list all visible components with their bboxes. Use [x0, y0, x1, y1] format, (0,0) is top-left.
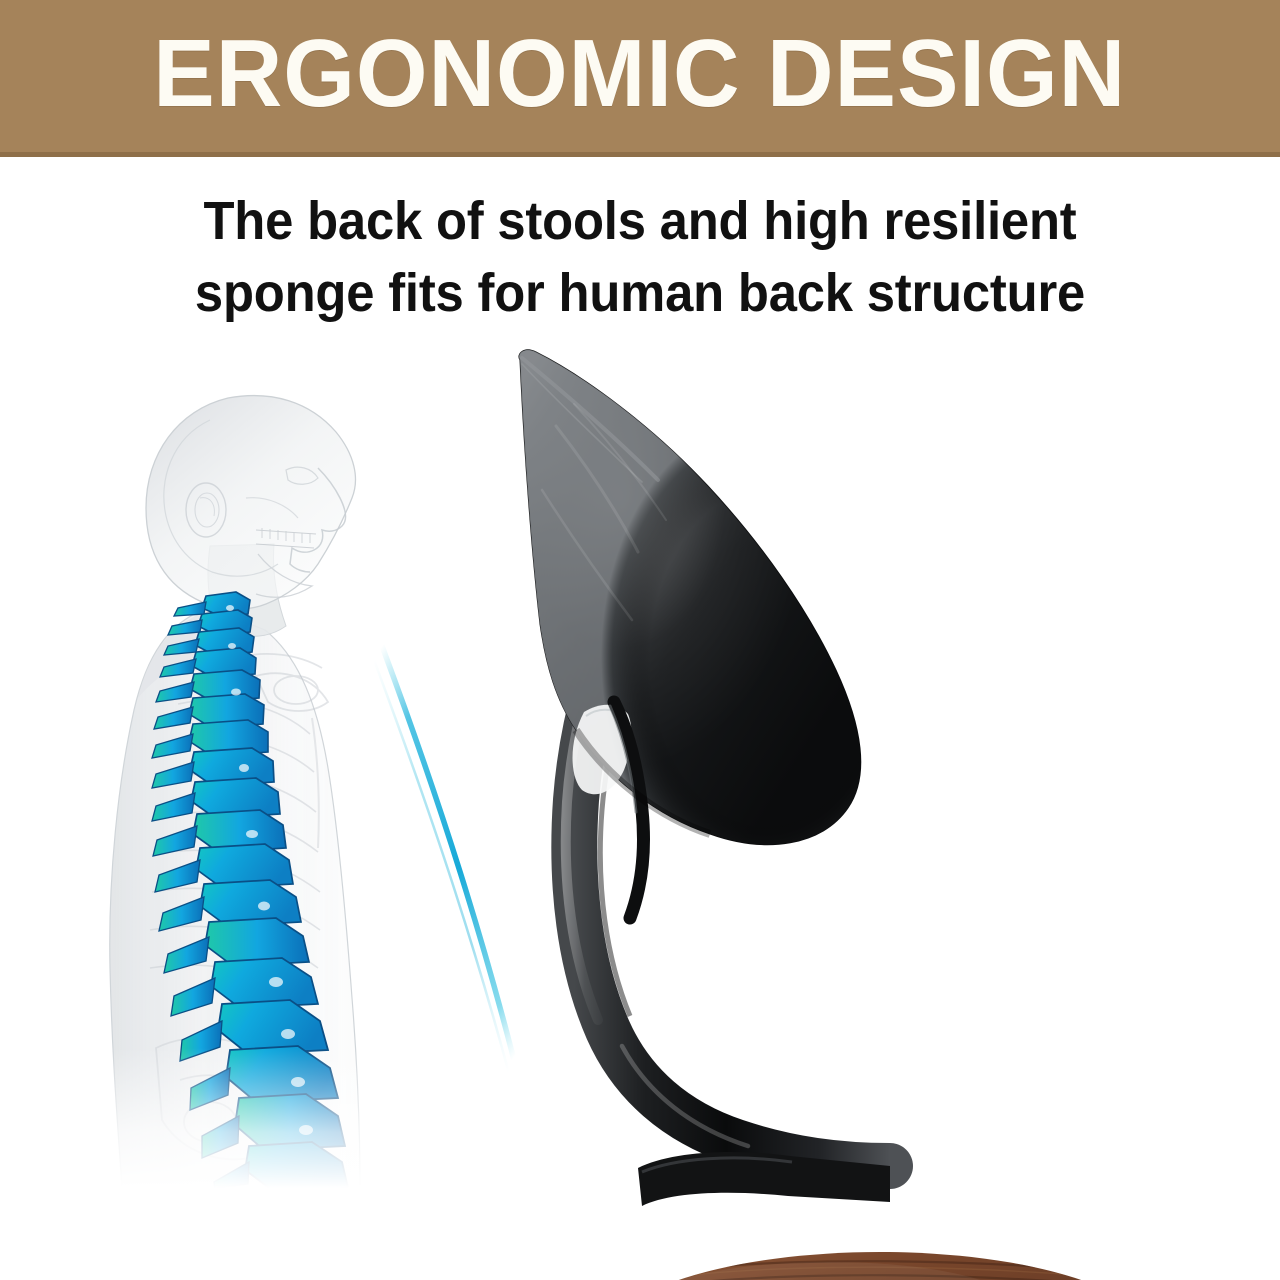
head-outline — [146, 396, 355, 610]
subtitle-block: The back of stools and high resilient sp… — [38, 186, 1241, 330]
illustration-stage — [0, 330, 1280, 1280]
page-title: ERGONOMIC DESIGN — [154, 26, 1127, 122]
stool-illustration — [370, 330, 1280, 1280]
subtitle-line-2: sponge fits for human back structure — [38, 258, 1241, 330]
subtitle-line-1: The back of stools and high resilient — [38, 186, 1241, 258]
header-banner: ERGONOMIC DESIGN — [0, 0, 1280, 157]
stool-seat — [600, 1152, 1164, 1280]
product-feature-image: ERGONOMIC DESIGN The back of stools and … — [0, 0, 1280, 1280]
